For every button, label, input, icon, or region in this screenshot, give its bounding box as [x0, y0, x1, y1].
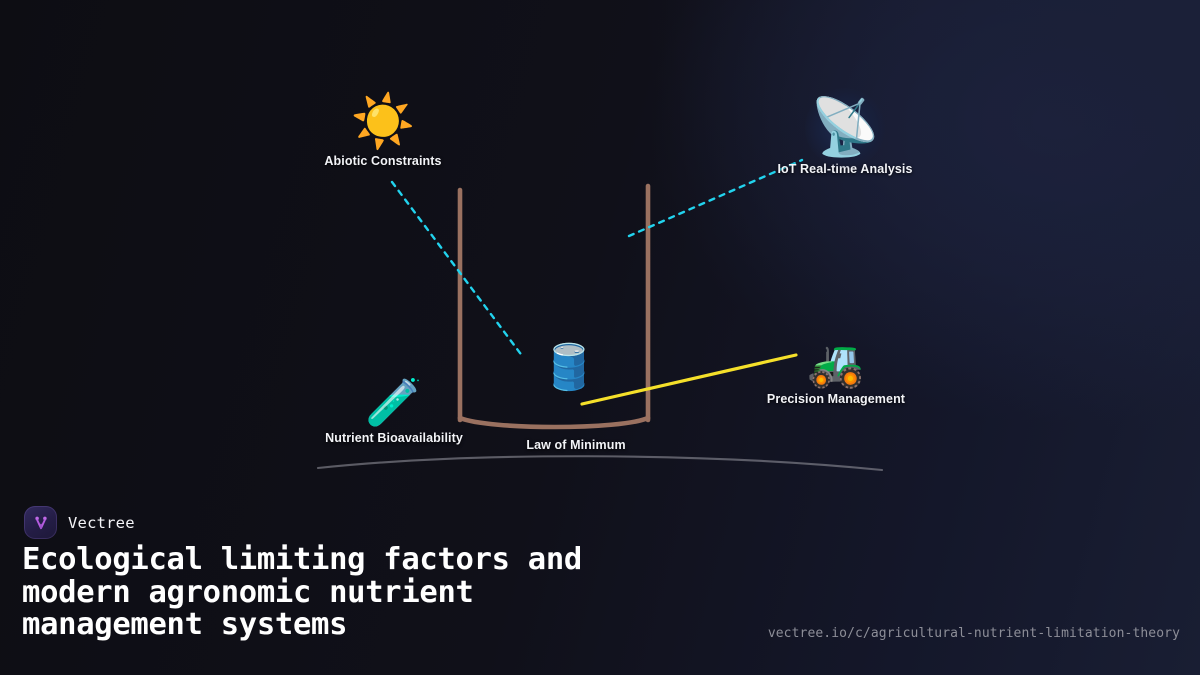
brand-name: Vectree [68, 514, 135, 532]
sun-icon: ☀️ [351, 96, 416, 148]
satellite-dish-icon: 📡 [810, 100, 880, 156]
connector-abiotic-to-barrel [392, 182, 523, 357]
node-nutrient-bioavailability-label: Nutrient Bioavailability [325, 431, 463, 445]
node-precision-management-label: Precision Management [767, 392, 905, 406]
node-iot-realtime-analysis[interactable]: 📡 IoT Real-time Analysis [735, 100, 955, 176]
footer: Vectree Ecological limiting factors and … [0, 492, 1200, 675]
diagram-scene: 🛢️ Law of Minimum ☀️ Abiotic Constraints… [0, 0, 1200, 492]
footer-url: vectree.io/c/agricultural-nutrient-limit… [768, 626, 1180, 641]
brand[interactable]: Vectree [24, 506, 135, 539]
diagram-svg [0, 0, 1200, 492]
node-nutrient-bioavailability[interactable]: 🧪 Nutrient Bioavailability [284, 379, 504, 445]
node-precision-management[interactable]: 🚜 Precision Management [726, 340, 946, 406]
page-title: Ecological limiting factors and modern a… [22, 544, 742, 642]
test-tube-icon: 🧪 [365, 379, 422, 425]
node-abiotic-constraints-label: Abiotic Constraints [324, 154, 441, 168]
node-abiotic-constraints[interactable]: ☀️ Abiotic Constraints [273, 96, 493, 168]
vectree-logo-icon [24, 506, 57, 539]
oil-drum-icon: 🛢️ [542, 346, 597, 390]
tractor-icon: 🚜 [807, 340, 864, 386]
node-iot-halo: 📡 [810, 100, 880, 156]
barrel-label: Law of Minimum [526, 438, 625, 452]
slide-canvas: 🛢️ Law of Minimum ☀️ Abiotic Constraints… [0, 0, 1200, 675]
ground-line-path [318, 456, 882, 470]
